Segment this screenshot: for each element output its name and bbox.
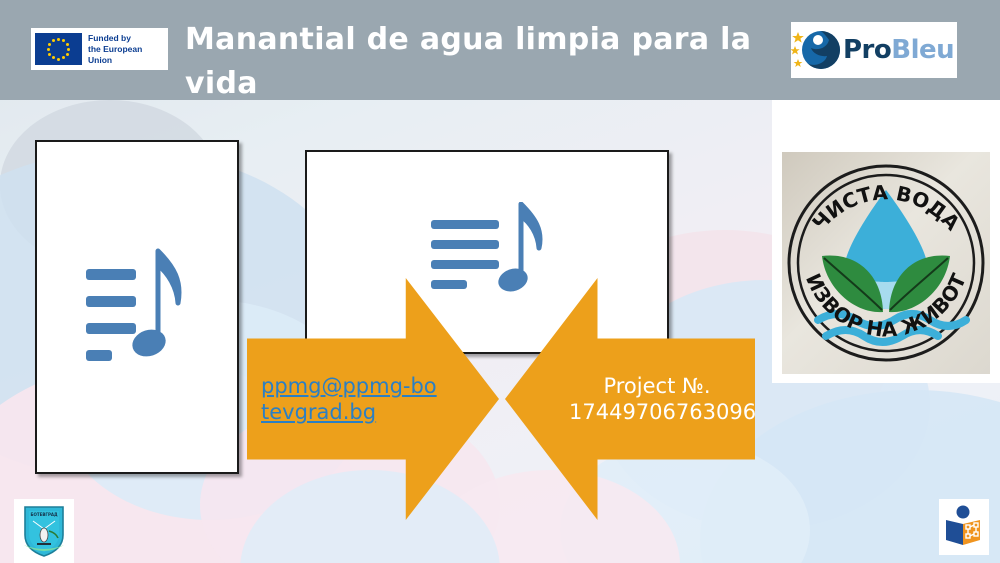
school-crest-logo: БОТЕВГРАД xyxy=(14,499,74,563)
eu-star-icon xyxy=(52,39,55,42)
music-placeholder-left[interactable] xyxy=(35,140,239,474)
page-title: Manantial de agua limpia para la vida xyxy=(185,18,785,106)
probleu-globe-icon xyxy=(791,24,843,76)
music-placeholder-middle[interactable] xyxy=(305,150,669,354)
probleu-wordmark: ProBleu xyxy=(843,37,954,63)
eu-emblem-text: Funded by the European Union xyxy=(88,33,164,66)
eu-star-icon xyxy=(66,53,69,56)
eu-star-icon xyxy=(62,39,65,42)
probleu-logo[interactable]: ProBleu xyxy=(791,22,957,78)
eu-star-icon xyxy=(48,43,51,46)
book-network-icon xyxy=(942,504,986,550)
school-crest-icon: БОТЕВГРАД xyxy=(19,503,69,559)
eu-funding-emblem: Funded by the European Union xyxy=(31,28,168,70)
partner-network-logo xyxy=(939,499,989,555)
eu-emblem-line2: the European Union xyxy=(88,44,164,66)
eu-star-icon xyxy=(66,43,69,46)
slide-canvas: ЧИСТА ВОДА ИЗВОР НА ЖИВОТ pp xyxy=(0,0,1000,563)
eu-star-icon xyxy=(52,56,55,59)
probleu-word-pro: Pro xyxy=(843,35,891,65)
eu-star-icon xyxy=(57,58,60,61)
contact-email-link[interactable]: ppmg@ppmg-botevgrad.bg xyxy=(261,373,441,425)
eu-star-icon xyxy=(57,38,60,41)
eu-star-icon xyxy=(62,56,65,59)
music-note-icon xyxy=(82,247,192,367)
eu-star-icon xyxy=(48,53,51,56)
project-number-label: Project №. 174497067630969 xyxy=(569,373,745,425)
chista-voda-emblem: ЧИСТА ВОДА ИЗВОР НА ЖИВОТ xyxy=(782,152,990,374)
svg-text:БОТЕВГРАД: БОТЕВГРАД xyxy=(30,512,58,517)
eu-star-icon xyxy=(67,48,70,51)
music-note-icon xyxy=(417,202,557,302)
eu-flag-icon xyxy=(35,33,82,65)
probleu-word-bleu: Bleu xyxy=(891,35,954,65)
chista-voda-emblem-graphic: ЧИСТА ВОДА ИЗВОР НА ЖИВОТ xyxy=(782,152,990,374)
eu-emblem-line1: Funded by xyxy=(88,33,164,44)
eu-star-icon xyxy=(47,48,50,51)
